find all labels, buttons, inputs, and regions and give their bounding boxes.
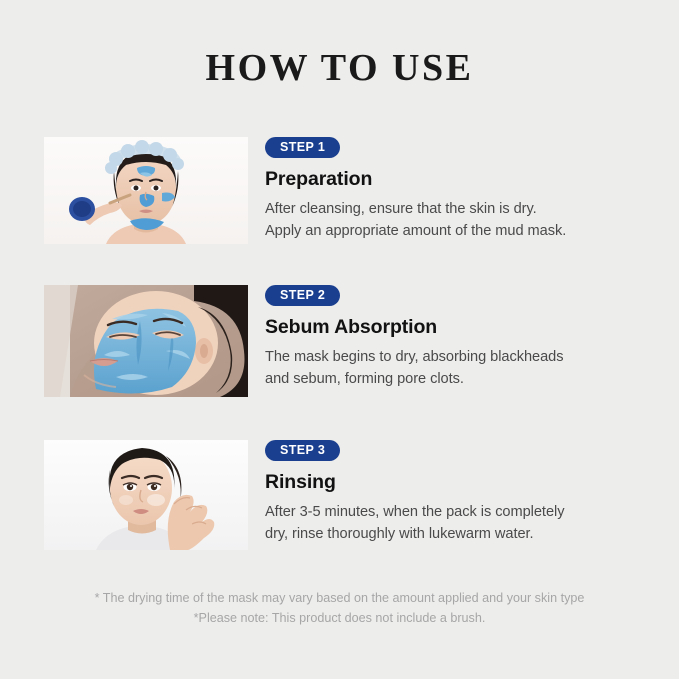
step-row-2: STEP 2 Sebum Absorption The mask begins …: [44, 285, 644, 405]
step-1-description-line-2: Apply an appropriate amount of the mud m…: [265, 220, 665, 242]
step-3-description-line-1: After 3-5 minutes, when the pack is comp…: [265, 501, 665, 523]
step-3-body: STEP 3 Rinsing After 3-5 minutes, when t…: [265, 440, 665, 545]
step-1-badge: STEP 1: [265, 137, 340, 158]
footer-notes: * The drying time of the mask may vary b…: [0, 588, 679, 628]
step-3-description: After 3-5 minutes, when the pack is comp…: [265, 501, 665, 545]
step-2-badge: STEP 2: [265, 285, 340, 306]
step-2-body: STEP 2 Sebum Absorption The mask begins …: [265, 285, 665, 390]
footer-note-1: * The drying time of the mask may vary b…: [0, 588, 679, 608]
step-1-body: STEP 1 Preparation After cleansing, ensu…: [265, 137, 665, 242]
step-1-description-line-1: After cleansing, ensure that the skin is…: [265, 198, 665, 220]
step-2-description-line-1: The mask begins to dry, absorbing blackh…: [265, 346, 665, 368]
how-to-use-infographic: HOW TO USE: [0, 0, 679, 679]
step-1-photo-illustration: [44, 137, 248, 244]
step-3-photo-illustration: [44, 440, 248, 550]
step-row-1: STEP 1 Preparation After cleansing, ensu…: [44, 137, 644, 257]
step-3-badge: STEP 3: [265, 440, 340, 461]
step-2-photo-illustration: [44, 285, 248, 397]
page-title: HOW TO USE: [0, 46, 679, 90]
step-3-title: Rinsing: [265, 470, 665, 494]
step-2-image: [44, 285, 248, 397]
footer-note-2: *Please note: This product does not incl…: [0, 608, 679, 628]
step-3-image: [44, 440, 248, 550]
step-2-title: Sebum Absorption: [265, 315, 665, 339]
step-2-description-line-2: and sebum, forming pore clots.: [265, 368, 665, 390]
step-2-description: The mask begins to dry, absorbing blackh…: [265, 346, 665, 390]
step-row-3: STEP 3 Rinsing After 3-5 minutes, when t…: [44, 440, 644, 560]
step-3-description-line-2: dry, rinse thoroughly with lukewarm wate…: [265, 523, 665, 545]
step-1-description: After cleansing, ensure that the skin is…: [265, 198, 665, 242]
step-1-title: Preparation: [265, 167, 665, 191]
step-1-image: [44, 137, 248, 244]
